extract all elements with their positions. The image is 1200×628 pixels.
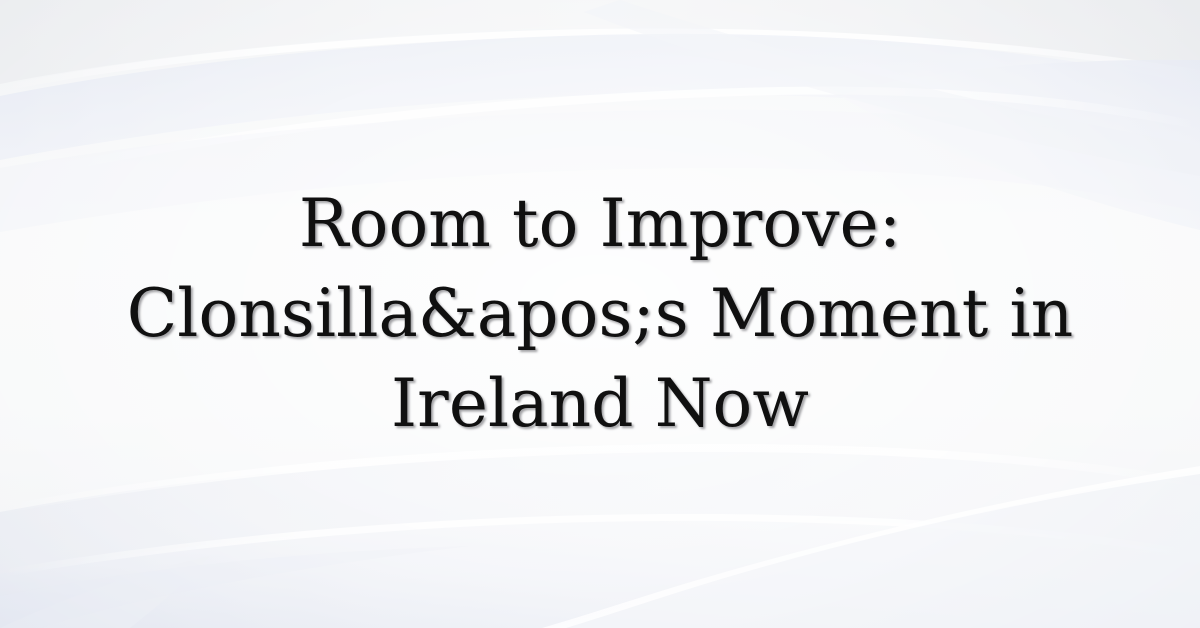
headline-container: Room to Improve: Clonsilla&apos;s Moment… [0, 0, 1200, 628]
title-line-2: Clonsilla&apos;s Moment in [60, 269, 1140, 359]
title-line-3: Ireland Now [60, 359, 1140, 449]
page-title: Room to Improve: Clonsilla&apos;s Moment… [60, 179, 1140, 449]
title-card: Room to Improve: Clonsilla&apos;s Moment… [0, 0, 1200, 628]
title-line-1: Room to Improve: [60, 179, 1140, 269]
